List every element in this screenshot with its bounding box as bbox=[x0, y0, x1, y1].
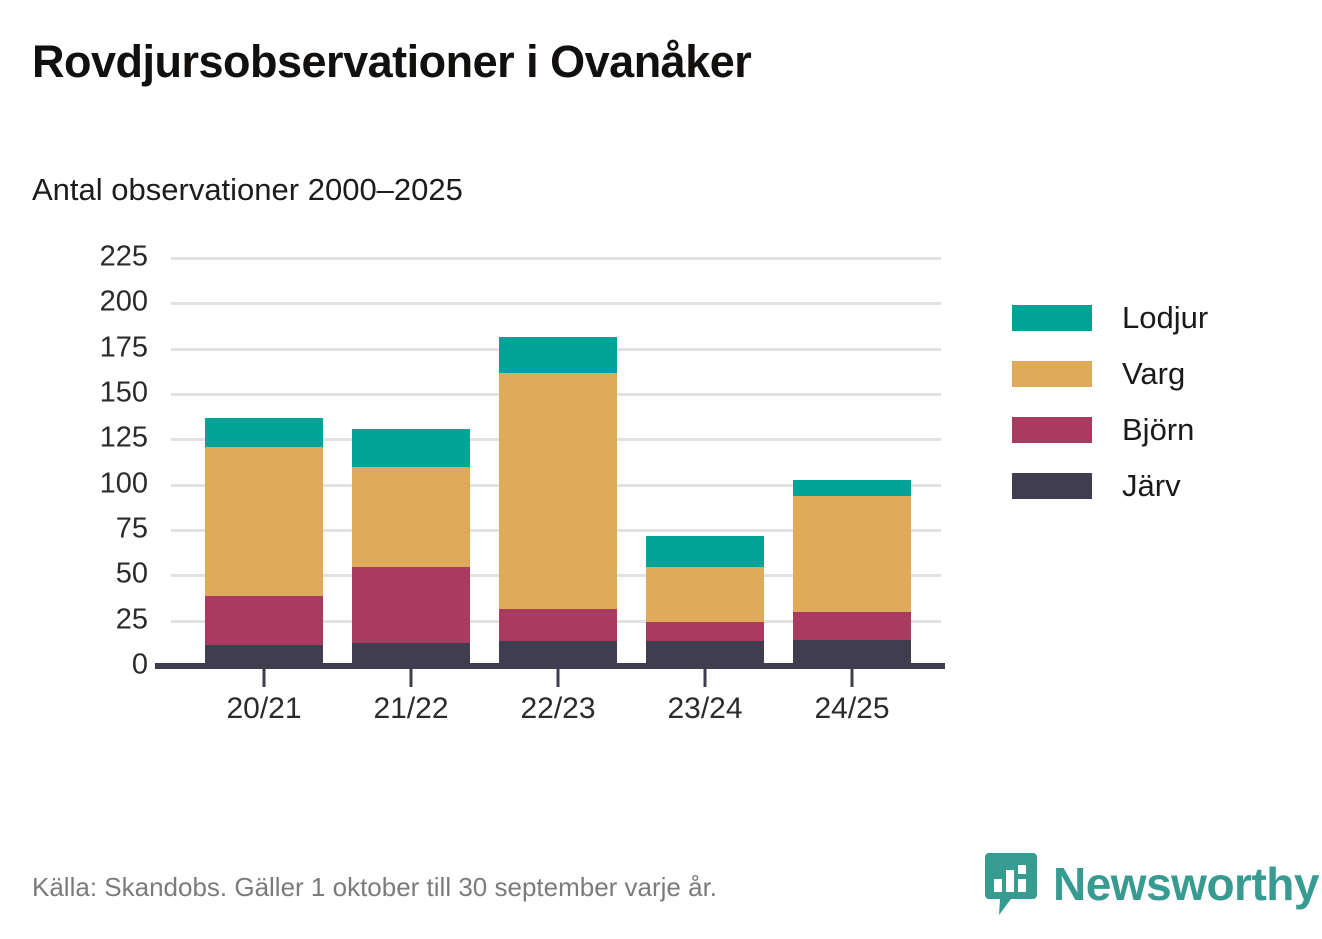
bar-segment[interactable] bbox=[499, 609, 617, 642]
x-axis-tick-label: 23/24 bbox=[625, 692, 785, 726]
bar-stack[interactable] bbox=[499, 337, 617, 665]
bar-stack[interactable] bbox=[205, 418, 323, 665]
legend-swatch bbox=[1012, 473, 1092, 499]
x-axis-tick bbox=[704, 669, 707, 687]
bar-segment[interactable] bbox=[646, 622, 764, 642]
legend-label: Varg bbox=[1122, 356, 1185, 392]
legend-label: Björn bbox=[1122, 412, 1194, 448]
legend-item[interactable]: Varg bbox=[1012, 346, 1208, 402]
bar-stack[interactable] bbox=[793, 480, 911, 665]
bar-segment[interactable] bbox=[793, 496, 911, 612]
bar-stack[interactable] bbox=[646, 536, 764, 665]
legend-label: Järv bbox=[1122, 468, 1181, 504]
y-axis-tick-label: 125 bbox=[0, 424, 148, 453]
x-axis-tick bbox=[263, 669, 266, 687]
bars-layer bbox=[171, 257, 941, 665]
y-axis-tick-label: 150 bbox=[0, 379, 148, 408]
x-axis-tick-marks bbox=[171, 669, 941, 687]
legend-item[interactable]: Björn bbox=[1012, 402, 1208, 458]
chart-plot-area bbox=[171, 257, 941, 665]
legend-item[interactable]: Lodjur bbox=[1012, 290, 1208, 346]
bar-segment[interactable] bbox=[793, 612, 911, 639]
bar-segment[interactable] bbox=[352, 429, 470, 467]
bar-segment[interactable] bbox=[499, 337, 617, 373]
bar-segment[interactable] bbox=[499, 641, 617, 665]
bar-segment[interactable] bbox=[646, 641, 764, 665]
x-axis-tick bbox=[851, 669, 854, 687]
bar-segment[interactable] bbox=[205, 596, 323, 645]
x-axis-tick-label: 24/25 bbox=[772, 692, 932, 726]
speech-bubble-chart-icon bbox=[985, 853, 1037, 915]
bar-segment[interactable] bbox=[352, 467, 470, 567]
bar-segment[interactable] bbox=[352, 567, 470, 643]
legend-swatch bbox=[1012, 361, 1092, 387]
bar-segment[interactable] bbox=[793, 640, 911, 665]
x-axis-tick-label: 20/21 bbox=[184, 692, 344, 726]
x-axis-tick-label: 22/23 bbox=[478, 692, 638, 726]
bar-segment[interactable] bbox=[793, 480, 911, 496]
legend-label: Lodjur bbox=[1122, 300, 1208, 336]
bar-segment[interactable] bbox=[205, 645, 323, 665]
bar-segment[interactable] bbox=[205, 418, 323, 447]
x-axis-tick bbox=[557, 669, 560, 687]
x-axis-tick bbox=[410, 669, 413, 687]
brand-wordmark: Newsworthy bbox=[1053, 857, 1319, 911]
bar-stack[interactable] bbox=[352, 429, 470, 665]
legend-swatch bbox=[1012, 305, 1092, 331]
y-axis-tick-label: 50 bbox=[0, 560, 148, 589]
bar-segment[interactable] bbox=[205, 447, 323, 596]
y-axis-tick-label: 25 bbox=[0, 605, 148, 634]
chart-subtitle: Antal observationer 2000–2025 bbox=[32, 172, 463, 208]
y-axis-tick-labels: 0255075100125150175200225 bbox=[0, 257, 148, 665]
bar-segment[interactable] bbox=[499, 373, 617, 609]
legend-item[interactable]: Järv bbox=[1012, 458, 1208, 514]
bar-segment[interactable] bbox=[352, 643, 470, 665]
y-axis-tick-label: 225 bbox=[0, 243, 148, 272]
x-axis-tick-labels: 20/2121/2222/2323/2424/25 bbox=[171, 692, 941, 738]
bar-segment[interactable] bbox=[646, 536, 764, 567]
x-axis-tick-label: 21/22 bbox=[331, 692, 491, 726]
source-note: Källa: Skandobs. Gäller 1 oktober till 3… bbox=[32, 872, 717, 903]
newsworthy-logo: Newsworthy bbox=[985, 853, 1319, 915]
chart-legend: LodjurVargBjörnJärv bbox=[1012, 290, 1208, 514]
page-title: Rovdjursobservationer i Ovanåker bbox=[32, 36, 751, 88]
y-axis-tick-label: 100 bbox=[0, 469, 148, 498]
legend-swatch bbox=[1012, 417, 1092, 443]
y-axis-tick-label: 0 bbox=[0, 651, 148, 680]
y-axis-tick-label: 75 bbox=[0, 515, 148, 544]
bar-segment[interactable] bbox=[646, 567, 764, 621]
y-axis-tick-label: 200 bbox=[0, 288, 148, 317]
y-axis-tick-label: 175 bbox=[0, 333, 148, 362]
